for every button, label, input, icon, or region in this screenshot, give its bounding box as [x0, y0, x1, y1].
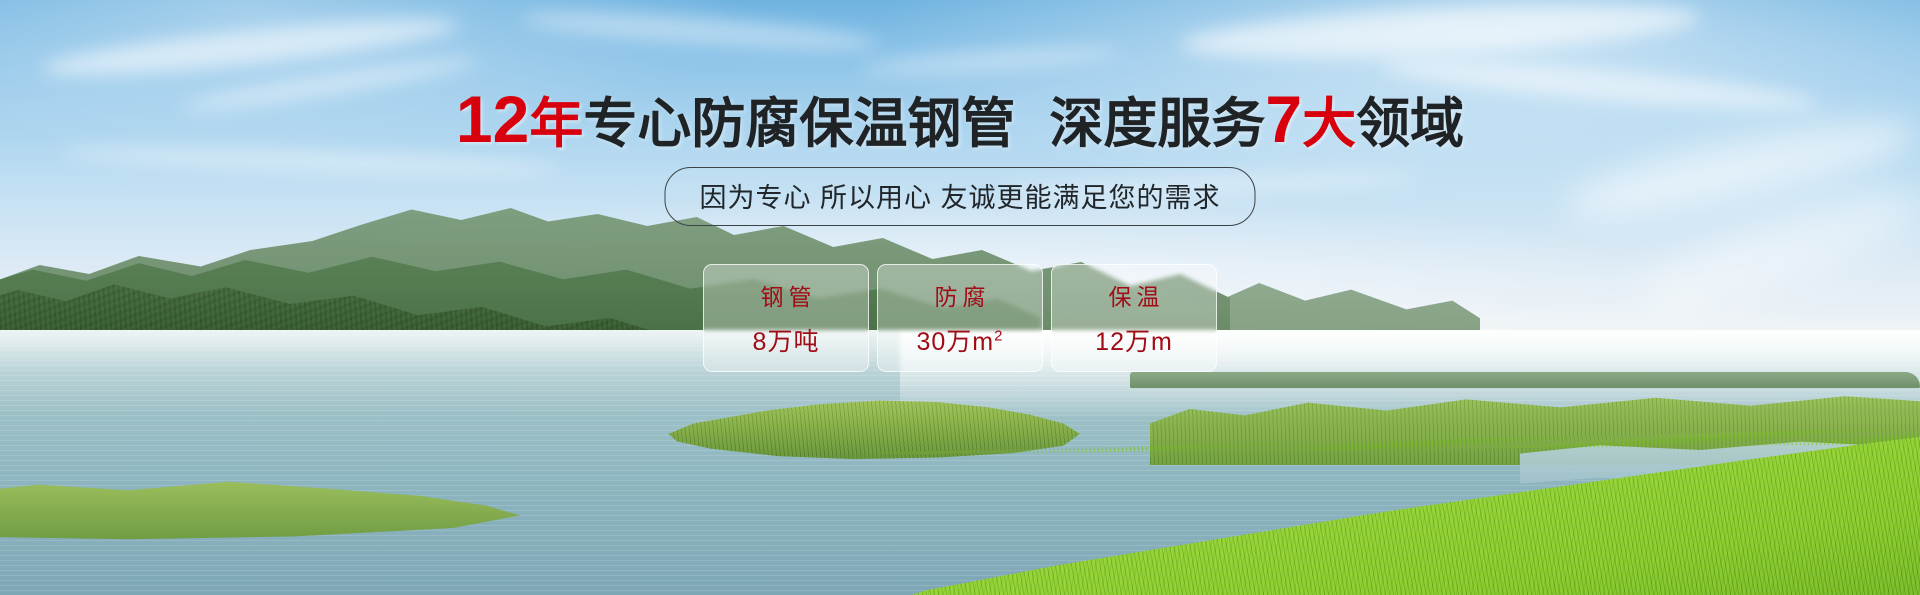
promo-banner: 12年专心防腐保温钢管深度服务7大领域 因为专心 所以用心 友诚更能满足您的需求…	[0, 0, 1920, 595]
stat-card-group: 钢管 8万吨 防腐 30万m2 保温 12万m	[703, 264, 1217, 372]
headline-fields-unit: 大	[1302, 97, 1356, 151]
stat-card-value: 8万吨	[753, 322, 820, 358]
stat-card-insulation[interactable]: 保温 12万m	[1051, 264, 1217, 372]
stat-value-base: 30万m	[917, 328, 995, 356]
stat-card-value: 12万m	[1095, 322, 1173, 358]
headline-fields-text: 领域	[1356, 97, 1464, 151]
stat-value-base: 8万吨	[753, 328, 820, 356]
headline-years-number: 12	[456, 86, 529, 152]
headline-years-unit: 年	[529, 97, 583, 151]
headline-service-text: 深度服务	[1049, 97, 1265, 151]
stat-card-value: 30万m2	[917, 322, 1004, 358]
stat-value-base: 12万m	[1095, 328, 1173, 356]
stat-card-steel-pipe[interactable]: 钢管 8万吨	[703, 264, 869, 372]
stat-value-superscript: 2	[994, 328, 1003, 345]
headline-fields-number: 7	[1265, 86, 1302, 152]
stat-card-label: 防腐	[930, 278, 991, 312]
stat-card-anticorrosion[interactable]: 防腐 30万m2	[877, 264, 1043, 372]
stat-card-label: 保温	[1104, 278, 1165, 312]
headline-main-text: 专心防腐保温钢管	[583, 97, 1015, 151]
banner-subtitle-pill: 因为专心 所以用心 友诚更能满足您的需求	[664, 167, 1255, 226]
far-shoreline	[1130, 372, 1920, 388]
stat-card-label: 钢管	[756, 278, 817, 312]
banner-headline: 12年专心防腐保温钢管深度服务7大领域	[0, 86, 1920, 152]
